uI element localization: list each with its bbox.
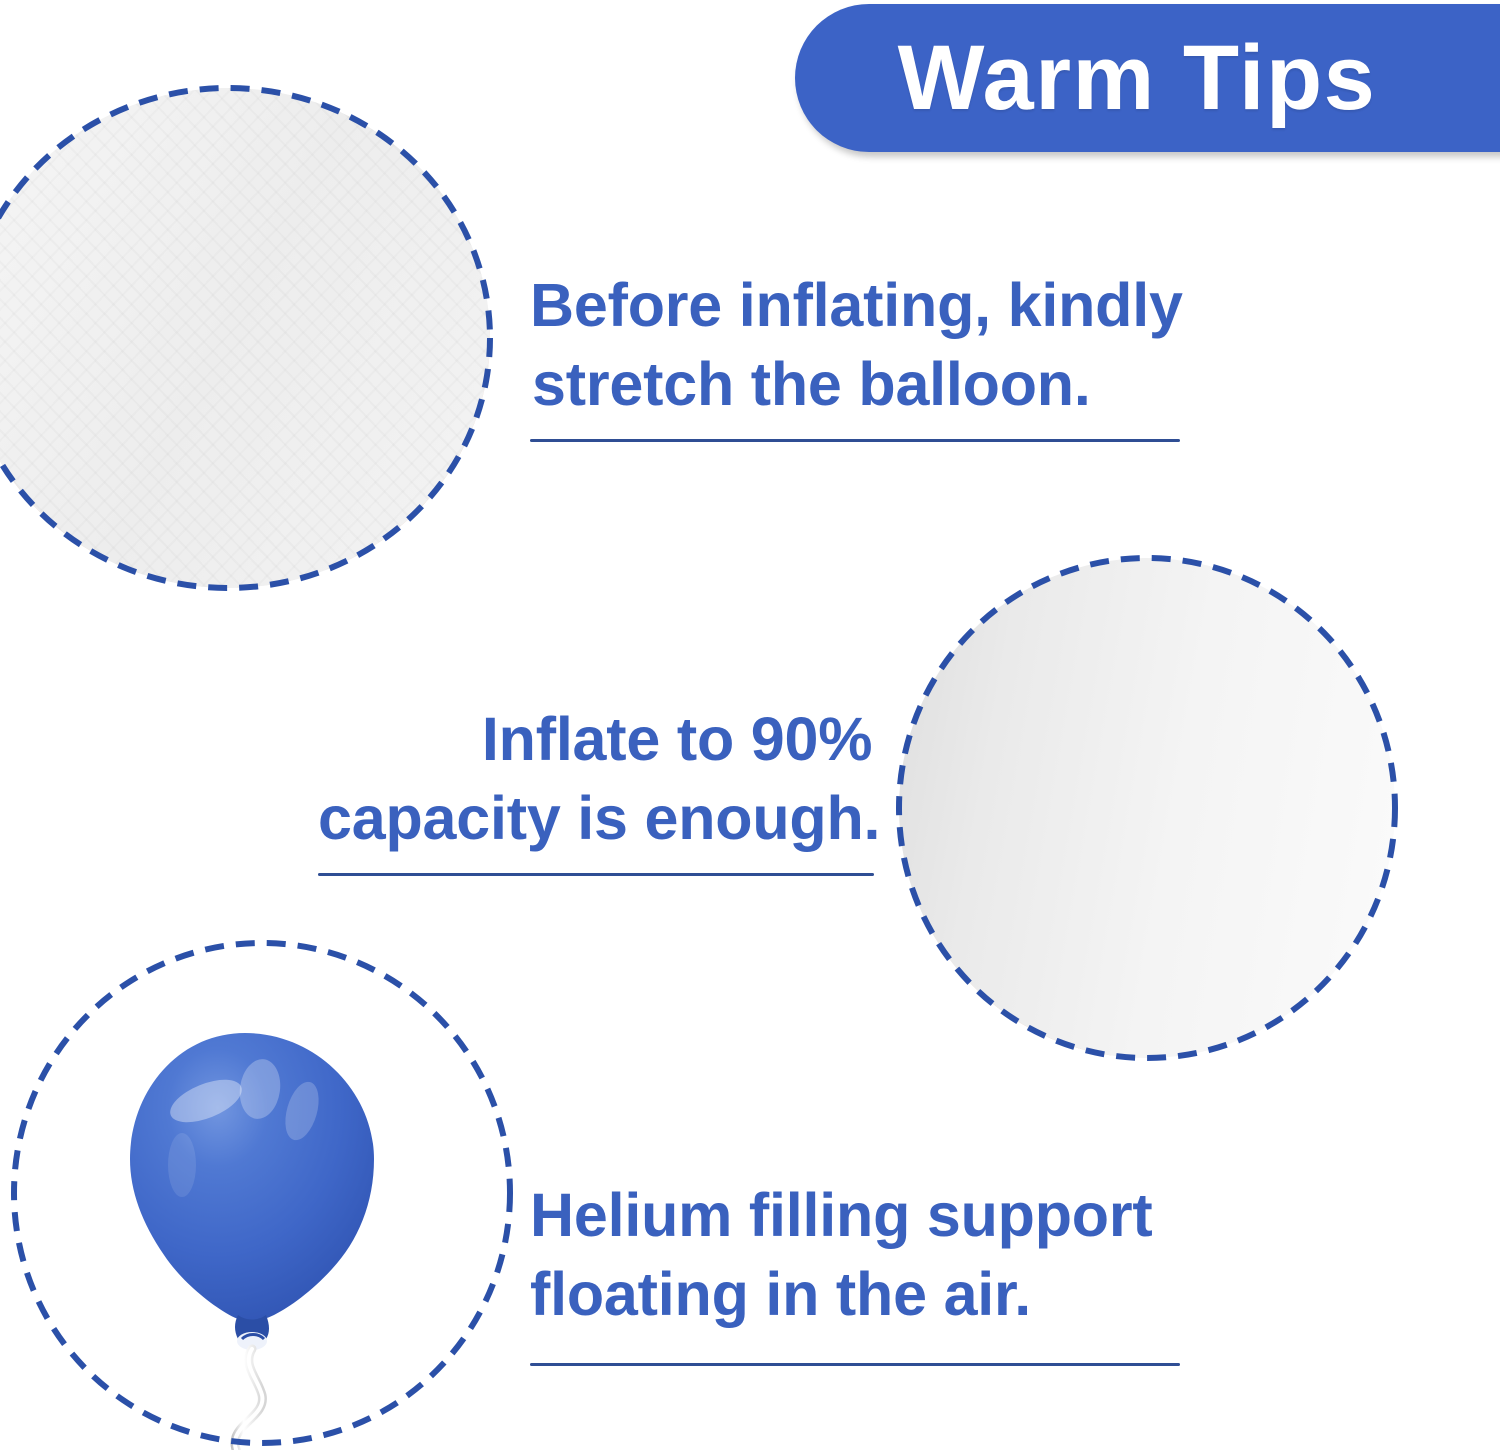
tip3-underline <box>530 1363 1180 1366</box>
tip-text-helium-float: Helium filling support floating in the a… <box>530 1176 1180 1366</box>
dashed-circle-border <box>10 935 520 1450</box>
tip2-line2: capacity is enough. <box>318 779 880 858</box>
dashed-circle-border <box>895 550 1405 1066</box>
tip3-line1: Helium filling support <box>530 1176 1180 1255</box>
tip-image-stretch-balloon <box>0 80 520 596</box>
tip2-underline <box>318 873 874 876</box>
banner-title: Warm Tips <box>898 32 1377 124</box>
tip3-line2: floating in the air. <box>530 1255 1180 1334</box>
tip-image-helium-float <box>10 935 520 1450</box>
tip-text-inflate-90: Inflate to 90% capacity is enough. <box>318 700 880 876</box>
infographic-canvas: Warm Tips <box>0 0 1500 1450</box>
tip1-line2: stretch the balloon. <box>532 345 1183 424</box>
tip2-line1: Inflate to 90% <box>318 700 880 779</box>
tip-text-stretch-balloon: Before inflating, kindly stretch the bal… <box>530 266 1183 442</box>
tip1-underline <box>530 439 1180 442</box>
tip-image-inflate-90 <box>895 550 1405 1066</box>
warm-tips-banner: Warm Tips <box>795 4 1500 152</box>
dashed-circle-border <box>0 80 520 596</box>
tip1-line1: Before inflating, kindly <box>530 266 1183 345</box>
